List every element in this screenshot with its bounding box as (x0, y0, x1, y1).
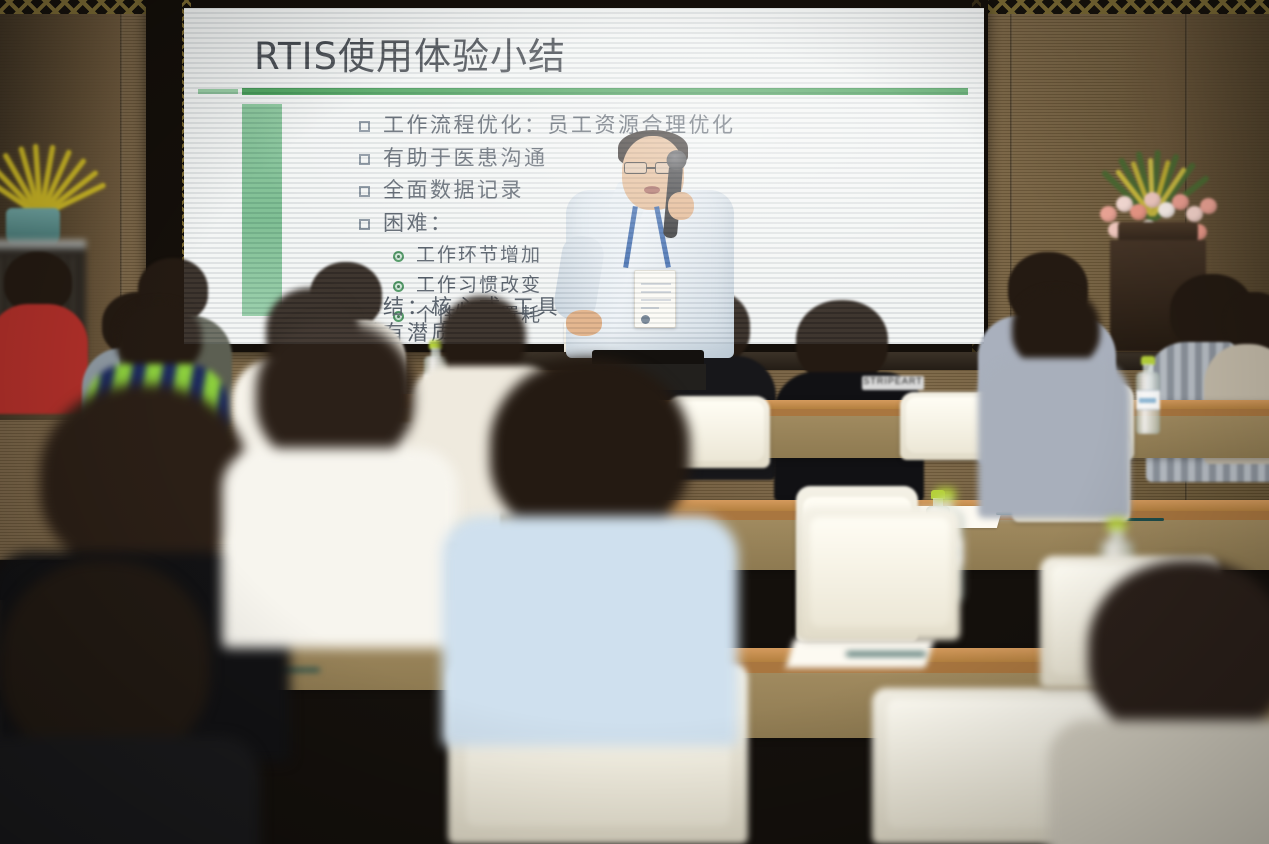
presenter-right-hand (668, 192, 694, 220)
pen (846, 652, 926, 656)
title-rule (242, 88, 968, 95)
slide-title: RTIS使用体验小结 (254, 26, 566, 80)
square-bullet-icon (359, 219, 370, 230)
yellow-blooms (0, 104, 112, 216)
square-bullet-icon (359, 186, 370, 197)
bullet-text: 有助于医患沟通 (383, 145, 548, 173)
sub-bullet-text: 工作环节增加 (416, 243, 542, 268)
presenter-mouth (644, 186, 660, 194)
target-bullet-icon (393, 251, 404, 262)
badge-logo-icon (641, 315, 650, 324)
title-rule-stub (198, 89, 238, 94)
square-bullet-icon (359, 154, 370, 165)
presenter-left-hand (566, 310, 602, 336)
slide-sidebar-accent (242, 104, 282, 316)
chair (800, 508, 960, 640)
presenter (556, 128, 746, 378)
name-badge (634, 270, 676, 328)
bottle-label (1136, 390, 1160, 410)
shirt-print: STRIPEART (862, 376, 924, 390)
square-bullet-icon (359, 121, 370, 132)
conference-room-photo: RTIS使用体验小结 工作流程优化：员工资源合理优化 有助于医患沟通 全面数据记… (0, 0, 1269, 844)
bullet-text: 全面数据记录 (383, 177, 524, 205)
bullet-text: 困难： (383, 210, 454, 238)
target-bullet-icon (393, 281, 404, 292)
